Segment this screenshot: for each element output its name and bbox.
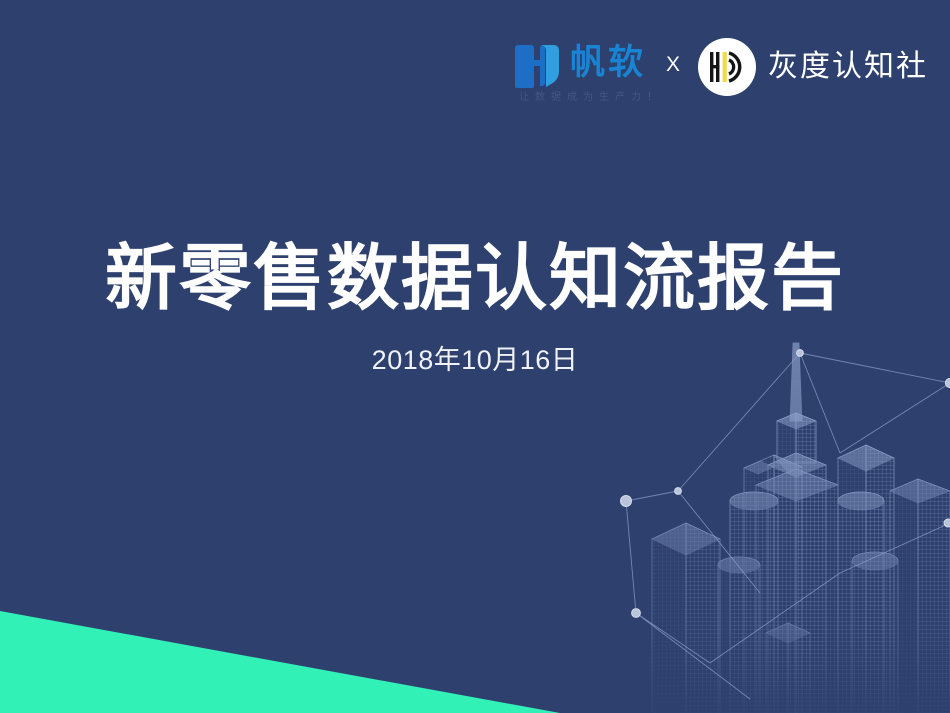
title-slide: 帆软 让数据成为生产力！ X 灰度认知社 新零售数据认知流 — [0, 0, 950, 713]
huidu-wordmark: 灰度认知社 — [768, 50, 928, 84]
logo-lockup: 帆软 让数据成为生产力！ X 灰度认知社 — [515, 38, 928, 104]
brand-fanruan: 帆软 让数据成为生产力！ — [515, 40, 646, 102]
green-angled-wedge — [0, 583, 560, 713]
building-low-block — [766, 623, 810, 713]
building-cylinder-mid — [730, 492, 778, 713]
slide-date: 2018年10月16日 — [0, 344, 950, 377]
network-node — [632, 609, 641, 618]
building-cylinder-right-tall — [838, 492, 884, 713]
network-node — [621, 496, 632, 507]
building-cylinder-right-front — [852, 552, 898, 713]
building-slab-right — [838, 445, 894, 713]
network-node — [945, 378, 950, 387]
network-node — [944, 519, 950, 527]
network-node — [675, 488, 682, 495]
building-slab-left — [652, 523, 720, 713]
title-block: 新零售数据认知流报告 2018年10月16日 — [0, 236, 950, 377]
fanruan-logo-icon — [515, 40, 561, 88]
wireframe-city-skyline — [590, 333, 950, 713]
page-title: 新零售数据认知流报告 — [0, 236, 950, 322]
brand-huidu: 灰度认知社 — [698, 38, 928, 104]
huidu-circle-logo-icon — [698, 38, 756, 96]
building-central-supertall — [756, 343, 838, 713]
fanruan-wordmark: 帆软 — [570, 40, 646, 86]
building-slab-far-right — [890, 479, 950, 713]
building-notched-tower — [744, 455, 802, 713]
network-node-lines — [590, 333, 950, 713]
lockup-separator-x: X — [666, 54, 680, 75]
building-cylinder-short-left — [718, 557, 760, 713]
fanruan-tagline: 让数据成为生产力！ — [519, 88, 663, 103]
